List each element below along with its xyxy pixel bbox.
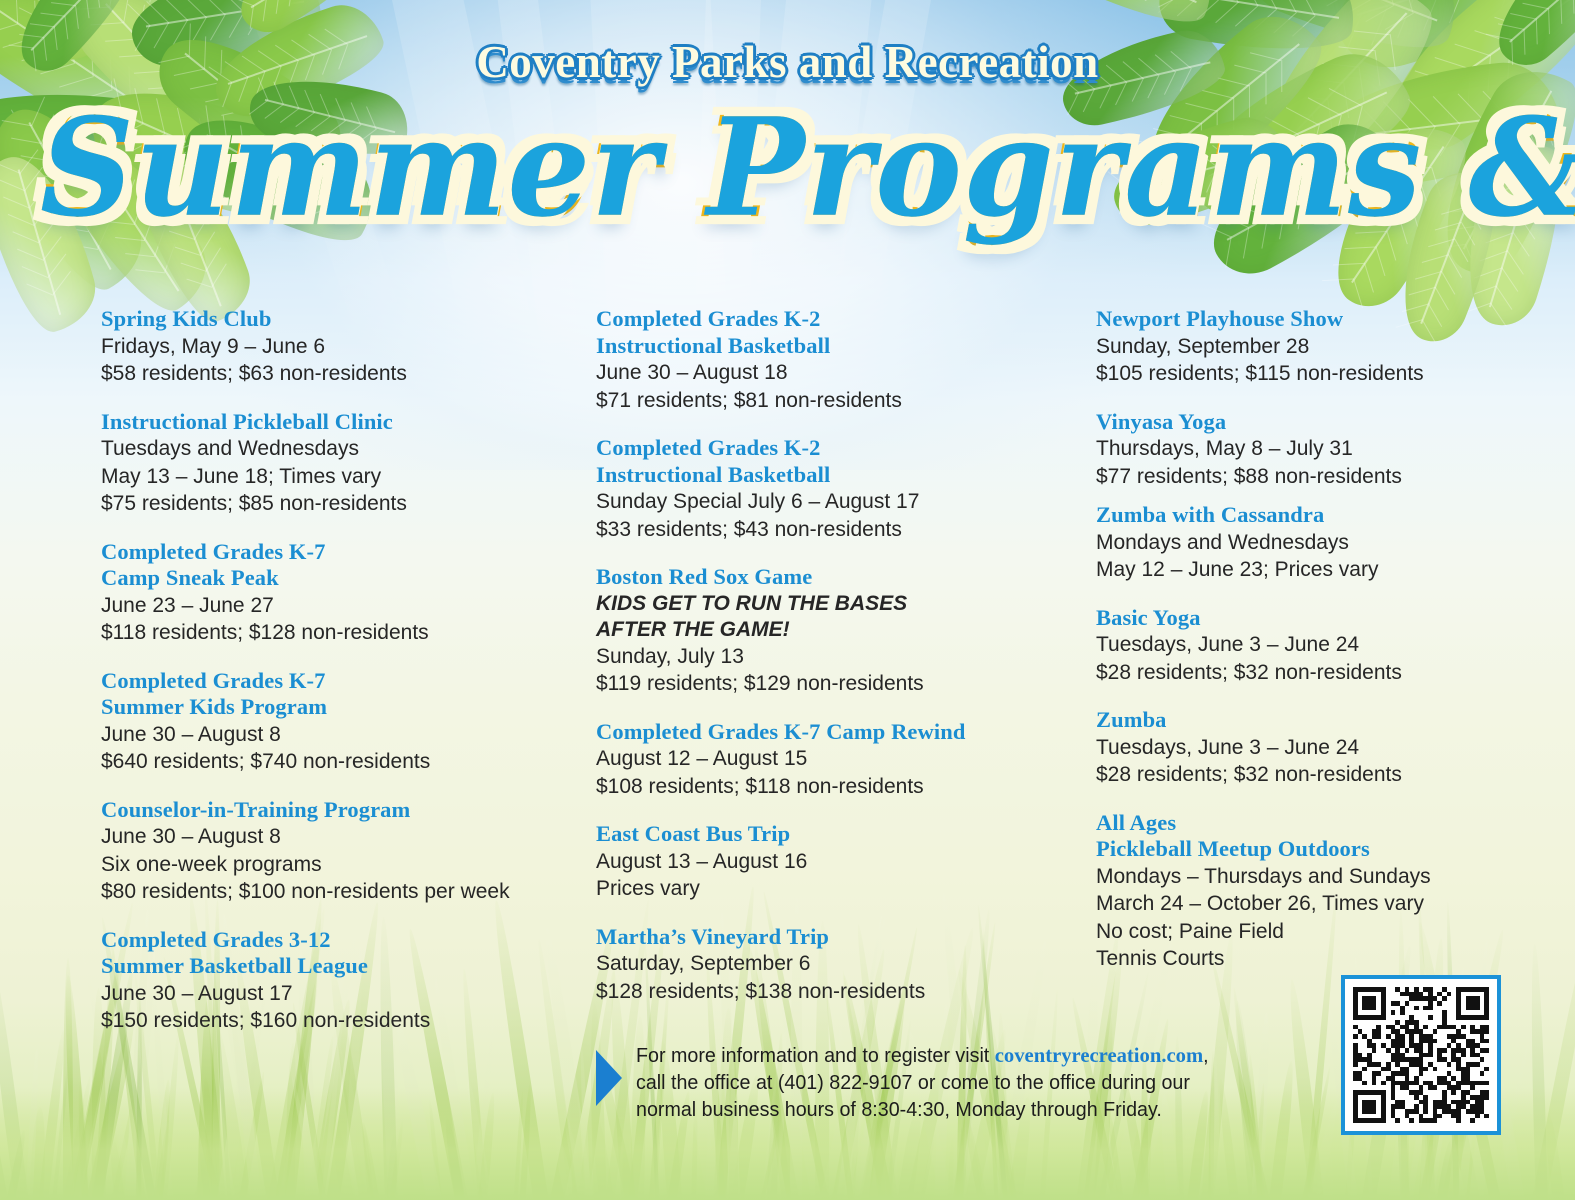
program-listing: Spring Kids ClubFridays, May 9 – June 6$… — [0, 306, 1575, 1096]
program-detail-line: $71 residents; $81 non-residents — [596, 387, 1076, 415]
program-detail-line: $28 residents; $32 non-residents — [1096, 659, 1496, 687]
program-entry: Martha’s Vineyard TripSaturday, Septembe… — [596, 924, 1076, 1006]
program-column-1: Spring Kids ClubFridays, May 9 – June 6$… — [101, 306, 541, 1035]
program-detail-line: May 13 – June 18; Times vary — [101, 463, 541, 491]
program-detail-line: Prices vary — [596, 875, 1076, 903]
program-detail-line: Thursdays, May 8 – July 31 — [1096, 435, 1496, 463]
program-title: Basic Yoga — [1096, 605, 1496, 632]
program-column-3: Newport Playhouse ShowSunday, September … — [1096, 306, 1496, 973]
program-detail-line: Sunday, September 28 — [1096, 333, 1496, 361]
program-title: Completed Grades K-7 Camp Sneak Peak — [101, 539, 541, 592]
program-entry: Completed Grades K-2 Instructional Baske… — [596, 306, 1076, 414]
program-entry: Spring Kids ClubFridays, May 9 – June 6$… — [101, 306, 541, 388]
program-detail-line: May 12 – June 23; Prices vary — [1096, 556, 1496, 584]
program-detail-line: August 13 – August 16 — [596, 848, 1076, 876]
program-entry: Completed Grades K-2 Instructional Baske… — [596, 435, 1076, 543]
program-detail-line: Mondays – Thursdays and Sundays — [1096, 863, 1496, 891]
program-detail-line: Sunday, July 13 — [596, 643, 1076, 671]
contact-text: For more information and to register vis… — [636, 1042, 1209, 1123]
qr-code-icon[interactable] — [1341, 975, 1501, 1135]
program-highlight-note: KIDS GET TO RUN THE BASES AFTER THE GAME… — [596, 591, 1076, 643]
program-entry: Boston Red Sox GameKIDS GET TO RUN THE B… — [596, 564, 1076, 698]
program-column-2: Completed Grades K-2 Instructional Baske… — [596, 306, 1076, 1005]
program-title: Completed Grades 3-12 Summer Basketball … — [101, 927, 541, 980]
contact-footer: For more information and to register vis… — [596, 1042, 1356, 1123]
program-detail-line: $105 residents; $115 non-residents — [1096, 360, 1496, 388]
program-detail-line: $118 residents; $128 non-residents — [101, 619, 541, 647]
program-title: Completed Grades K-7 Camp Rewind — [596, 719, 1076, 746]
program-title: Counselor-in-Training Program — [101, 797, 541, 824]
contact-line2: call the office at (401) 822-9107 or com… — [636, 1070, 1209, 1097]
program-title: Boston Red Sox Game — [596, 564, 1076, 591]
program-entry: Completed Grades K-7 Summer Kids Program… — [101, 668, 541, 776]
program-detail-line: $150 residents; $160 non-residents — [101, 1007, 541, 1035]
program-detail-line: Tennis Courts — [1096, 945, 1496, 973]
program-entry: East Coast Bus TripAugust 13 – August 16… — [596, 821, 1076, 903]
program-title: Newport Playhouse Show — [1096, 306, 1496, 333]
triangle-right-icon — [596, 1050, 622, 1111]
contact-line3: normal business hours of 8:30-4:30, Mond… — [636, 1097, 1209, 1124]
program-title: Vinyasa Yoga — [1096, 409, 1496, 436]
program-entry: All Ages Pickleball Meetup OutdoorsMonda… — [1096, 810, 1496, 973]
program-detail-line: June 30 – August 18 — [596, 359, 1076, 387]
program-detail-line: Six one-week programs — [101, 851, 541, 879]
program-detail-line: $77 residents; $88 non-residents — [1096, 463, 1496, 491]
program-detail-line: Tuesdays, June 3 – June 24 — [1096, 734, 1496, 762]
program-entry: Instructional Pickleball ClinicTuesdays … — [101, 409, 541, 518]
program-entry: Basic YogaTuesdays, June 3 – June 24$28 … — [1096, 605, 1496, 687]
program-title: All Ages Pickleball Meetup Outdoors — [1096, 810, 1496, 863]
program-detail-line: Fridays, May 9 – June 6 — [101, 333, 541, 361]
contact-line1-prefix: For more information and to register vis… — [636, 1044, 995, 1067]
program-detail-line: $640 residents; $740 non-residents — [101, 748, 541, 776]
program-detail-line: $58 residents; $63 non-residents — [101, 360, 541, 388]
poster-canvas: Coventry Parks and Recreation Summer Pro… — [0, 0, 1575, 1200]
program-entry: Newport Playhouse ShowSunday, September … — [1096, 306, 1496, 388]
program-detail-line: June 30 – August 8 — [101, 823, 541, 851]
program-title: Instructional Pickleball Clinic — [101, 409, 541, 436]
website-link[interactable]: coventryrecreation.com — [995, 1043, 1203, 1067]
program-detail-line: $119 residents; $129 non-residents — [596, 670, 1076, 698]
program-detail-line: $33 residents; $43 non-residents — [596, 516, 1076, 544]
program-entry: Vinyasa YogaThursdays, May 8 – July 31$7… — [1096, 409, 1496, 491]
program-entry: Counselor-in-Training ProgramJune 30 – A… — [101, 797, 541, 906]
program-detail-line: June 30 – August 17 — [101, 980, 541, 1008]
program-detail-line: No cost; Paine Field — [1096, 918, 1496, 946]
program-title: Completed Grades K-2 Instructional Baske… — [596, 435, 1076, 488]
program-detail-line: Mondays and Wednesdays — [1096, 529, 1496, 557]
program-detail-line: $28 residents; $32 non-residents — [1096, 761, 1496, 789]
program-detail-line: Sunday Special July 6 – August 17 — [596, 488, 1076, 516]
program-entry: Completed Grades K-7 Camp Sneak PeakJune… — [101, 539, 541, 647]
program-detail-line: March 24 – October 26, Times vary — [1096, 890, 1496, 918]
program-detail-line: $128 residents; $138 non-residents — [596, 978, 1076, 1006]
program-detail-line: $108 residents; $118 non-residents — [596, 773, 1076, 801]
program-entry: Completed Grades K-7 Camp RewindAugust 1… — [596, 719, 1076, 801]
program-detail-line: Tuesdays, June 3 – June 24 — [1096, 631, 1496, 659]
program-entry: ZumbaTuesdays, June 3 – June 24$28 resid… — [1096, 707, 1496, 789]
program-detail-line: August 12 – August 15 — [596, 745, 1076, 773]
program-detail-line: $80 residents; $100 non-residents per we… — [101, 878, 541, 906]
program-detail-line: $75 residents; $85 non-residents — [101, 490, 541, 518]
program-title: East Coast Bus Trip — [596, 821, 1076, 848]
program-detail-line: June 23 – June 27 — [101, 592, 541, 620]
program-title: Completed Grades K-7 Summer Kids Program — [101, 668, 541, 721]
program-title: Completed Grades K-2 Instructional Baske… — [596, 306, 1076, 359]
program-title: Spring Kids Club — [101, 306, 541, 333]
program-title: Martha’s Vineyard Trip — [596, 924, 1076, 951]
page-title: Summer Programs & Events — [40, 97, 1540, 239]
program-detail-line: June 30 – August 8 — [101, 721, 541, 749]
program-entry: Completed Grades 3-12 Summer Basketball … — [101, 927, 541, 1035]
program-title: Zumba — [1096, 707, 1496, 734]
contact-line1-suffix: , — [1203, 1044, 1208, 1067]
program-detail-line: Saturday, September 6 — [596, 950, 1076, 978]
program-title: Zumba with Cassandra — [1096, 502, 1496, 529]
program-detail-line: Tuesdays and Wednesdays — [101, 435, 541, 463]
organization-title: Coventry Parks and Recreation — [0, 36, 1575, 88]
program-entry: Zumba with CassandraMondays and Wednesda… — [1096, 502, 1496, 584]
